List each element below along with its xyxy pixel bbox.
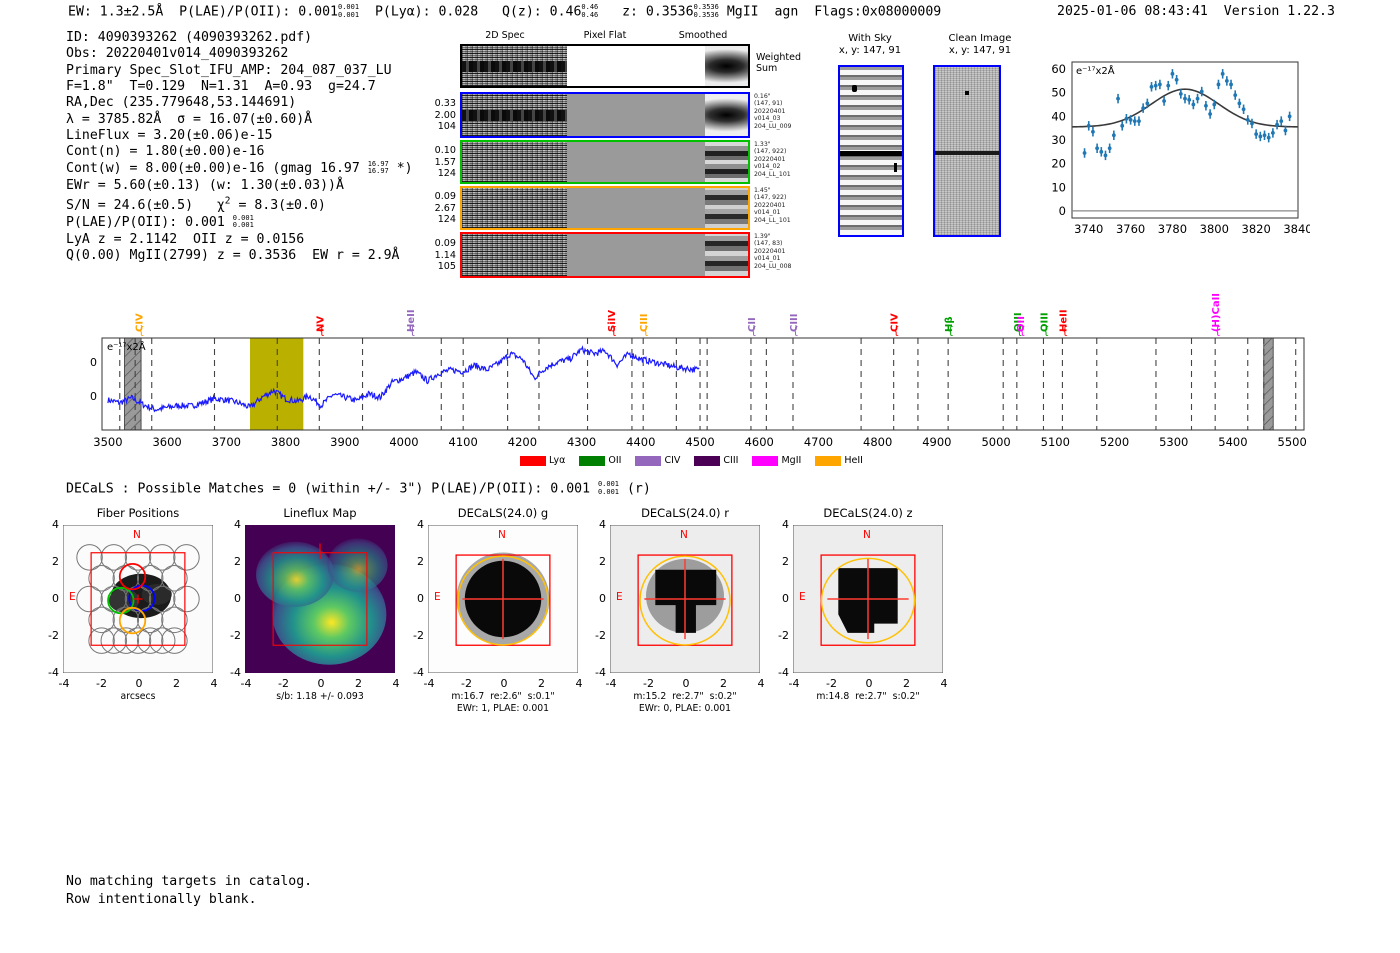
ytick: -2: [404, 629, 424, 642]
legend-item-civ: CIV: [635, 455, 680, 466]
svg-text:3800: 3800: [1200, 222, 1229, 236]
cutout-row-4: [460, 232, 750, 278]
panel-caption-4: m:14.8 re:2.7" s:0.2": [763, 691, 973, 703]
east-marker: E: [434, 591, 441, 603]
header-classification: agn: [774, 5, 798, 20]
ytick: 0: [221, 592, 241, 605]
ytick: 4: [586, 518, 606, 531]
cutout-row-1: [460, 92, 750, 138]
svg-text:3840: 3840: [1283, 222, 1310, 236]
header-flags: Flags:0x08000009: [814, 5, 941, 20]
ytick: -4: [221, 666, 241, 679]
ytick: 0: [769, 592, 789, 605]
cutout-panel-0[interactable]: [63, 525, 213, 673]
emission-line-bracket: {: [1019, 324, 1026, 337]
svg-text:4500: 4500: [685, 435, 714, 449]
line-profile-chart: 3740376037803800382038400102030405060e⁻¹…: [1030, 46, 1310, 261]
east-marker: E: [616, 591, 623, 603]
info-lines: ID: 4090393262 (4090393262.pdf) Obs: 202…: [66, 30, 392, 159]
ytick: 4: [39, 518, 59, 531]
legend-item-heii: HeII: [815, 455, 863, 466]
xtick: -2: [458, 677, 476, 690]
cutout-row-1-meta: 0.16" (147, 91) 20220401 v014_03 204_LU_…: [754, 93, 791, 130]
header-ew: EW: 1.3±2.5Å: [68, 5, 163, 20]
detection-info-block: ID: 4090393262 (4090393262.pdf) Obs: 202…: [66, 30, 413, 264]
cutout-row-2-meta: 1.33" (147, 922) 20220401 v014_02 204_LL…: [754, 141, 791, 178]
cutout-row-3-stats: 0.09 2.67 124: [420, 191, 456, 226]
full-spectrum-chart: 5010035003600370038003900400041004200430…: [90, 282, 1312, 452]
ytick: 4: [769, 518, 789, 531]
svg-text:3760: 3760: [1116, 222, 1145, 236]
svg-text:4100: 4100: [449, 435, 478, 449]
svg-text:3800: 3800: [271, 435, 300, 449]
panel-title-2: DECaLS(24.0) g: [408, 506, 598, 520]
svg-text:3820: 3820: [1242, 222, 1271, 236]
cutout-row-2-stats: 0.10 1.57 124: [420, 145, 456, 180]
emission-line-bracket: {: [1061, 324, 1068, 337]
panel-caption2-3: EWr: 0, PLAE: 0.001: [580, 703, 790, 715]
legend-swatch: [520, 456, 546, 466]
svg-text:50: 50: [1051, 86, 1066, 100]
svg-text:0: 0: [1059, 204, 1066, 218]
svg-text:4300: 4300: [567, 435, 596, 449]
report-header-line: EW: 1.3±2.5Å P(LAE)/P(OII): 0.0010.0010.…: [68, 4, 941, 20]
north-marker: N: [863, 529, 871, 541]
ytick: 2: [586, 555, 606, 568]
spectrum-trace: [108, 347, 699, 411]
info-ewr: EWr = 5.60(±0.13) (w: 1.30(±0.03))Å: [66, 178, 344, 193]
panel-title-0: Fiber Positions: [43, 506, 233, 520]
svg-text:20: 20: [1051, 157, 1066, 171]
info-qline: Q(0.00) MgII(2799) z = 0.3536 EW r = 2.9…: [66, 248, 399, 263]
svg-text:4600: 4600: [745, 435, 774, 449]
svg-text:100: 100: [90, 356, 97, 369]
ytick: 0: [404, 592, 424, 605]
xtick: -2: [275, 677, 293, 690]
header-qz-lo: 0.46: [581, 11, 598, 19]
ytick: -4: [586, 666, 606, 679]
header-z-lo: 0.3536: [694, 11, 719, 19]
header-plae-lo: 0.001: [338, 11, 359, 19]
ytick: 2: [221, 555, 241, 568]
emission-line-bracket: {: [318, 324, 325, 337]
header-plae-label: P(LAE)/P(OII):: [179, 5, 290, 20]
col-title-pixelflat: Pixel Flat: [560, 30, 650, 41]
svg-text:3700: 3700: [212, 435, 241, 449]
info-zlines: LyA z = 2.1142 OII z = 0.0156: [66, 232, 304, 247]
emission-line-bracket: {: [1042, 324, 1049, 337]
legend-item-oii: OII: [579, 455, 621, 466]
ytick: 0: [586, 592, 606, 605]
ytick: 0: [39, 592, 59, 605]
emission-line-bracket: {: [610, 324, 617, 337]
svg-text:4200: 4200: [508, 435, 537, 449]
header-qz: Q(z): 0.46: [502, 5, 581, 20]
east-marker: E: [799, 591, 806, 603]
xtick: 2: [715, 677, 733, 690]
xtick: 4: [935, 677, 953, 690]
cutout-row-3: [460, 186, 750, 230]
panel-caption-0: arcsecs: [33, 691, 243, 703]
clean-image-title: Clean Image x, y: 147, 91: [925, 33, 1035, 57]
ytick: -2: [221, 629, 241, 642]
header-plae-value: 0.001: [298, 5, 338, 20]
svg-text:4900: 4900: [922, 435, 951, 449]
emission-line-bracket: {: [750, 324, 757, 337]
clean-image: [933, 65, 1001, 237]
emission-line-bracket: {: [1214, 324, 1221, 337]
timestamp: 2025-01-06 08:43:41: [1057, 4, 1208, 19]
panel-caption-3: m:15.2 re:2.7" s:0.2": [580, 691, 790, 703]
svg-text:3740: 3740: [1074, 222, 1103, 236]
panel-title-1: Lineflux Map: [225, 506, 415, 520]
two-d-spectra-panel: 2D Spec Pixel Flat Smoothed Weighted Sum…: [420, 30, 750, 255]
ytick: 4: [221, 518, 241, 531]
svg-text:3900: 3900: [330, 435, 359, 449]
col-title-2dspec: 2D Spec: [460, 30, 550, 41]
xtick: -2: [823, 677, 841, 690]
with-sky-image: [838, 65, 904, 237]
xtick: 4: [387, 677, 405, 690]
xtick: 0: [677, 677, 695, 690]
north-marker: N: [680, 529, 688, 541]
legend-label: OII: [605, 455, 621, 466]
version: Version 1.22.3: [1224, 4, 1335, 19]
svg-text:40: 40: [1051, 109, 1066, 123]
cutout-panel-4[interactable]: [793, 525, 943, 673]
svg-text:4800: 4800: [863, 435, 892, 449]
panel-caption-1: s/b: 1.18 +/- 0.093: [215, 691, 425, 703]
svg-text:60: 60: [1051, 62, 1066, 76]
ytick: -4: [404, 666, 424, 679]
legend-label: MgII: [778, 455, 801, 466]
xtick: 0: [495, 677, 513, 690]
cutout-row-4-meta: 1.39" (147, 83) 20220401 v014_01 204_LU_…: [754, 233, 791, 270]
svg-text:5200: 5200: [1100, 435, 1129, 449]
footer-note: No matching targets in catalog. Row inte…: [66, 873, 312, 909]
legend-label: CIV: [661, 455, 680, 466]
decals-header: DECaLS : Possible Matches = 0 (within +/…: [66, 481, 651, 497]
with-sky-title: With Sky x, y: 147, 91: [820, 33, 920, 57]
north-marker: N: [498, 529, 506, 541]
svg-text:e⁻¹⁷x2Å: e⁻¹⁷x2Å: [107, 340, 146, 353]
ytick: -4: [39, 666, 59, 679]
svg-text:5000: 5000: [981, 435, 1010, 449]
legend-item-mgii: MgII: [752, 455, 801, 466]
spectrum-highlight-band: [250, 338, 303, 430]
ytick: -2: [39, 629, 59, 642]
emission-line-bracket: {: [893, 324, 900, 337]
xtick: 2: [898, 677, 916, 690]
xtick: -2: [640, 677, 658, 690]
svg-text:4700: 4700: [804, 435, 833, 449]
cutout-panel-1[interactable]: [245, 525, 395, 673]
xtick: 2: [168, 677, 186, 690]
col-title-smoothed: Smoothed: [658, 30, 748, 41]
cutout-panel-3[interactable]: [610, 525, 760, 673]
svg-text:10: 10: [1051, 180, 1066, 194]
legend-swatch: [635, 456, 661, 466]
cutout-row-2: [460, 140, 750, 184]
svg-text:5100: 5100: [1041, 435, 1070, 449]
emission-line-bracket: {: [792, 324, 799, 337]
east-marker: E: [69, 591, 76, 603]
spectrum-legend: Lyα OII CIV CIII MgII HeII: [520, 455, 877, 466]
footer-line-1: No matching targets in catalog.: [66, 874, 312, 889]
ytick: 2: [769, 555, 789, 568]
ytick: 2: [39, 555, 59, 568]
xtick: 2: [533, 677, 551, 690]
xtick: 0: [130, 677, 148, 690]
svg-text:30: 30: [1051, 133, 1066, 147]
xtick: 0: [860, 677, 878, 690]
panel-caption2-2: EWr: 1, PLAE: 0.001: [398, 703, 608, 715]
emission-line-bracket: {: [642, 324, 649, 337]
cutout-row-4-stats: 0.09 1.14 105: [420, 238, 456, 273]
legend-swatch: [694, 456, 720, 466]
ytick: -4: [769, 666, 789, 679]
ytick: -2: [586, 629, 606, 642]
legend-swatch: [815, 456, 841, 466]
panel-title-3: DECaLS(24.0) r: [590, 506, 780, 520]
xtick: 4: [752, 677, 770, 690]
ytick: 2: [404, 555, 424, 568]
svg-text:3500: 3500: [93, 435, 122, 449]
panel-title-4: DECaLS(24.0) z: [773, 506, 963, 520]
north-marker: N: [133, 529, 141, 541]
ytick: 4: [404, 518, 424, 531]
emission-line-bracket: {: [138, 324, 145, 337]
cutout-row-3-meta: 1.45" (147, 922) 20220401 v014_01 204_LL…: [754, 187, 791, 224]
panel-caption-2: m:16.7 re:2.6" s:0.1": [398, 691, 608, 703]
svg-text:50: 50: [90, 390, 97, 403]
legend-swatch: [752, 456, 778, 466]
svg-text:4400: 4400: [626, 435, 655, 449]
legend-label: HeII: [841, 455, 863, 466]
cutout-row-weighted-sum: [460, 44, 750, 88]
xtick: 0: [312, 677, 330, 690]
emission-line-bracket: {: [947, 324, 954, 337]
emission-line-bracket: {: [409, 324, 416, 337]
info-plae: P(LAE)/P(OII): 0.001 0.0010.001: [66, 215, 254, 230]
header-plya: P(Lyα): 0.028: [375, 5, 478, 20]
header-line-id: MgII: [727, 5, 759, 20]
svg-text:3780: 3780: [1158, 222, 1187, 236]
svg-text:5300: 5300: [1159, 435, 1188, 449]
report-timestamp-version: 2025-01-06 08:43:41 Version 1.22.3: [1057, 4, 1335, 19]
legend-label: Lyα: [546, 455, 565, 466]
svg-text:4000: 4000: [389, 435, 418, 449]
xtick: -2: [93, 677, 111, 690]
spectrum-masked-band: [1264, 338, 1273, 430]
info-contw: Cont(w) = 8.00(±0.00)e-16 (gmag 16.97 16…: [66, 161, 413, 176]
legend-item-ciii: CIII: [694, 455, 738, 466]
cutout-panel-2[interactable]: [428, 525, 578, 673]
legend-label: CIII: [720, 455, 738, 466]
svg-text:3600: 3600: [152, 435, 181, 449]
cutout-row-1-stats: 0.33 2.00 104: [420, 98, 456, 133]
xtick: 2: [350, 677, 368, 690]
ytick: -2: [769, 629, 789, 642]
legend-swatch: [579, 456, 605, 466]
svg-text:e⁻¹⁷x2Å: e⁻¹⁷x2Å: [1076, 64, 1115, 77]
svg-text:5400: 5400: [1218, 435, 1247, 449]
header-z: z: 0.3536: [622, 5, 693, 20]
footer-line-2: Row intentionally blank.: [66, 892, 257, 907]
svg-text:5500: 5500: [1278, 435, 1307, 449]
legend-item-lyα: Lyα: [520, 455, 565, 466]
info-sn: S/N = 24.6(±0.5) χ2 = 8.3(±0.0): [66, 198, 326, 213]
weighted-sum-label: Weighted Sum: [756, 52, 801, 74]
